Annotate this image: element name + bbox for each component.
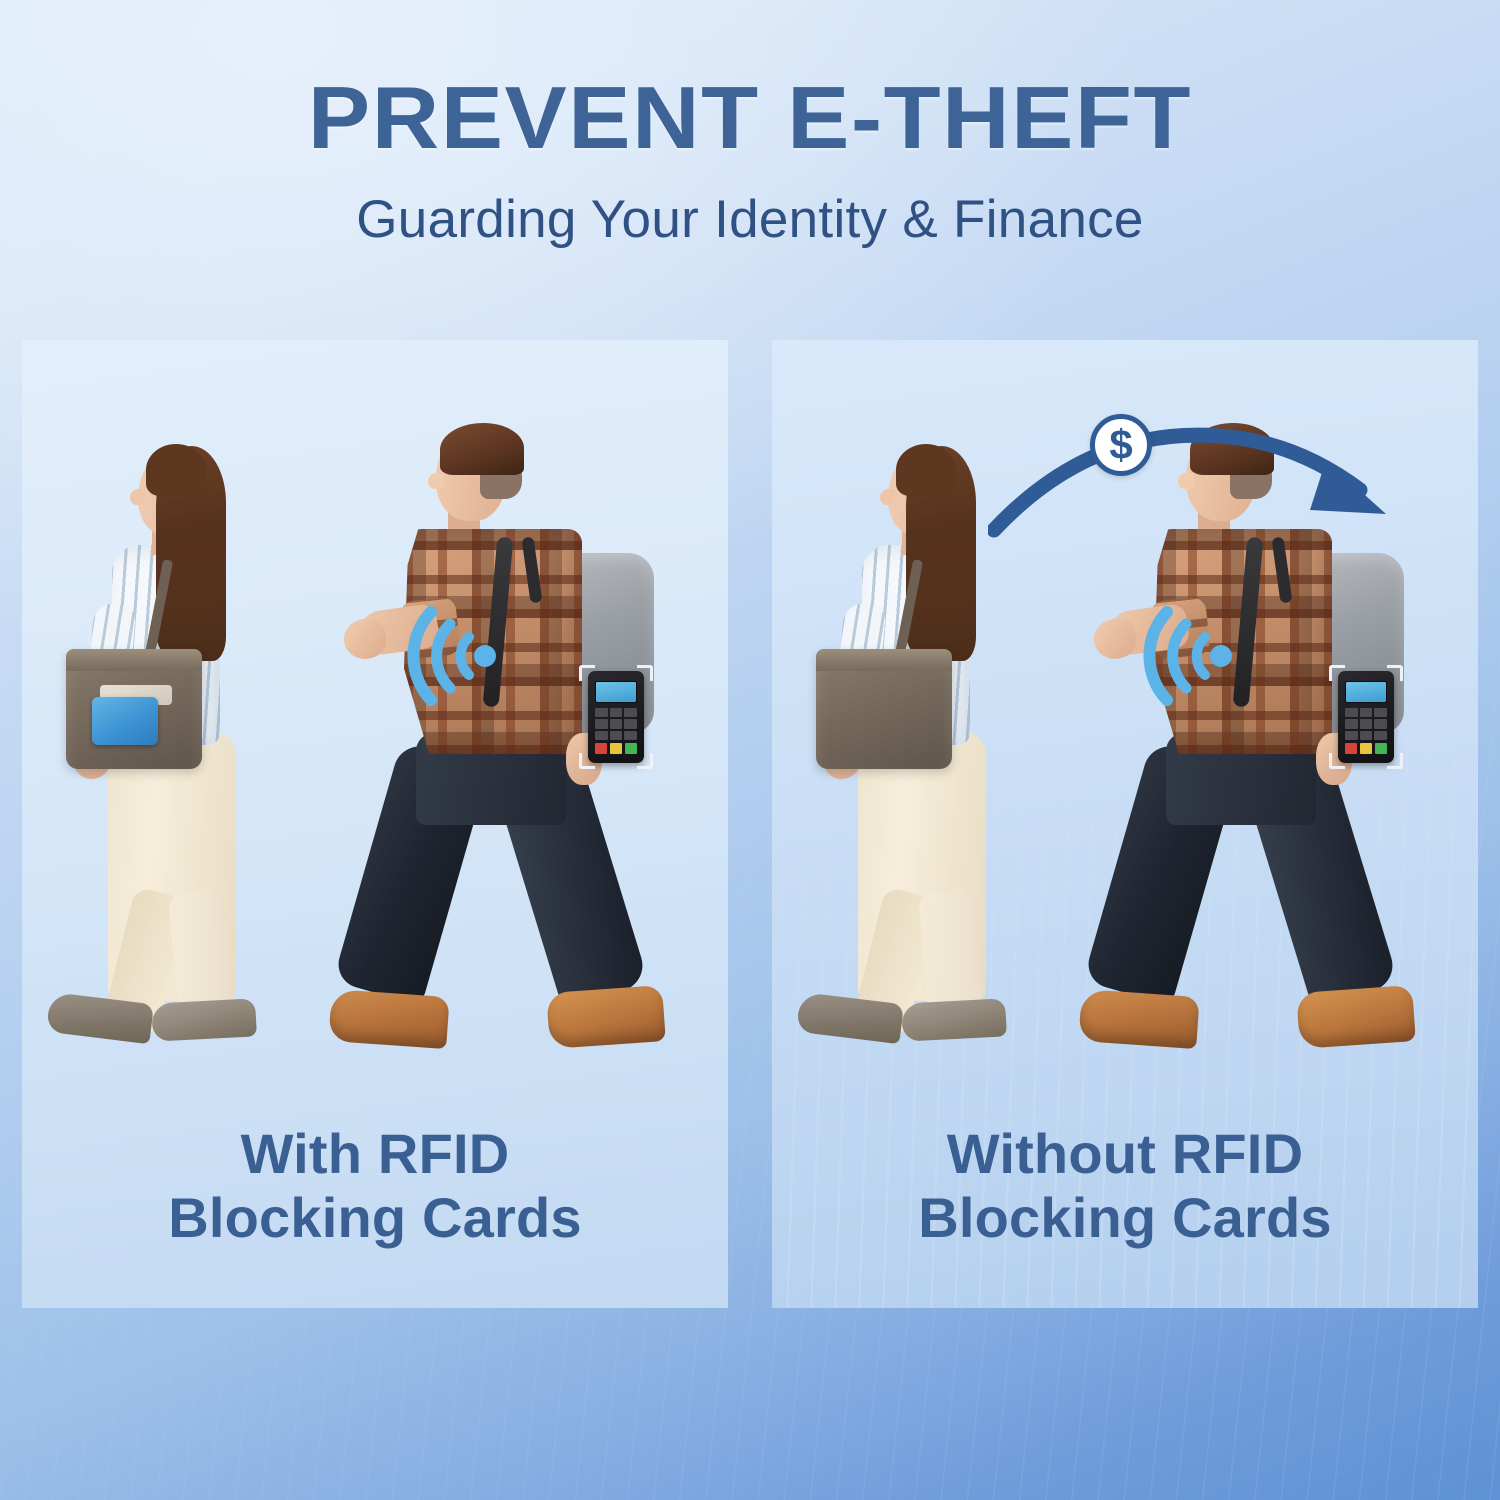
tote-bag-flap <box>66 649 202 671</box>
woman-hair-top <box>896 444 956 496</box>
man-hair <box>440 423 524 475</box>
panel-with-rfid: With RFID Blocking Cards <box>22 340 728 1308</box>
money-transfer-arrow <box>988 418 1408 538</box>
man-shoe-front <box>1296 985 1416 1049</box>
terminal-screen <box>1345 681 1387 703</box>
terminal-bracket-top-right <box>637 665 653 681</box>
terminal-function-keys <box>595 743 637 754</box>
page-title: PREVENT E-THEFT <box>0 74 1500 162</box>
terminal-bracket-top-left <box>1329 665 1345 681</box>
woman-hair-top <box>146 444 206 496</box>
caption-line-2: Blocking Cards <box>772 1186 1478 1250</box>
man-jeans <box>1164 733 1334 1023</box>
terminal-bracket-bottom-left <box>579 753 595 769</box>
figure-woman-without-rfid <box>810 453 1060 1053</box>
dollar-symbol: $ <box>1109 424 1132 466</box>
dollar-coin-icon: $ <box>1090 414 1152 476</box>
caption-line-1: With RFID <box>22 1122 728 1186</box>
woman-shoe-front <box>901 998 1007 1041</box>
man-shoe-back <box>1078 989 1199 1049</box>
terminal-bracket-top-left <box>579 665 595 681</box>
rfid-blocking-card <box>92 697 158 745</box>
terminal-function-keys <box>1345 743 1387 754</box>
figure-man-with-rfid <box>340 433 670 1053</box>
header: PREVENT E-THEFT Guarding Your Identity &… <box>0 74 1500 248</box>
terminal-bracket-bottom-right <box>637 753 653 769</box>
rfid-wave-icon <box>1142 604 1238 708</box>
terminal-keypad <box>595 708 637 740</box>
terminal-bracket-top-right <box>1387 665 1403 681</box>
woman-tote-bag <box>66 649 202 769</box>
woman-shoe-front <box>151 998 257 1041</box>
caption-line-1: Without RFID <box>772 1122 1478 1186</box>
man-profile-nose <box>428 473 444 489</box>
caption-without-rfid: Without RFID Blocking Cards <box>772 1122 1478 1250</box>
woman-legs <box>858 731 986 1001</box>
poster-canvas: PREVENT E-THEFT Guarding Your Identity &… <box>0 0 1500 1500</box>
rfid-wave-icon <box>406 604 502 708</box>
woman-profile-nose <box>130 489 145 505</box>
woman-profile-nose <box>880 489 895 505</box>
page-subtitle: Guarding Your Identity & Finance <box>0 192 1500 248</box>
tote-bag-flap <box>816 649 952 671</box>
panel-without-rfid: $ <box>772 340 1478 1308</box>
man-jeans <box>414 733 584 1023</box>
man-shoe-front <box>546 985 666 1049</box>
terminal-screen <box>595 681 637 703</box>
caption-with-rfid: With RFID Blocking Cards <box>22 1122 728 1250</box>
card-reader-terminal <box>588 671 644 763</box>
woman-tote-bag <box>816 649 952 769</box>
man-shoe-back <box>328 989 449 1049</box>
terminal-bracket-bottom-right <box>1387 753 1403 769</box>
card-reader-terminal <box>1338 671 1394 763</box>
terminal-keypad <box>1345 708 1387 740</box>
figure-woman-with-rfid <box>60 453 310 1053</box>
terminal-bracket-bottom-left <box>1329 753 1345 769</box>
caption-line-2: Blocking Cards <box>22 1186 728 1250</box>
woman-legs <box>108 731 236 1001</box>
